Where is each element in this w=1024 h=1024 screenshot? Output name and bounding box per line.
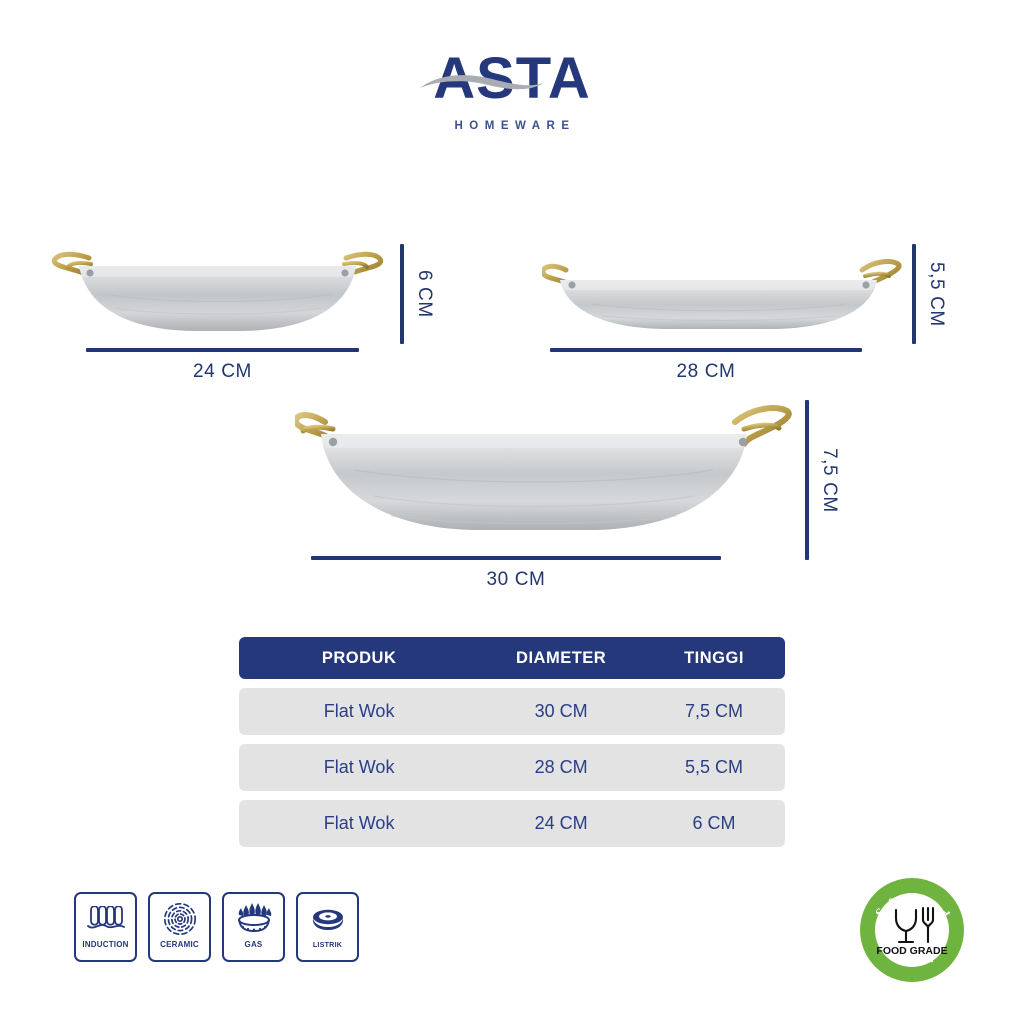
- cell-tinggi: 5,5 CM: [643, 757, 785, 778]
- table-row: Flat Wok 24 CM 6 CM: [239, 800, 785, 847]
- compatibility-badges: INDUCTION CERAMIC: [74, 892, 359, 962]
- brand-tagline: HOMEWARE: [0, 120, 1024, 132]
- dimension-line-vertical: [805, 400, 809, 560]
- height-dimension-wok-28: 5,5 CM: [912, 244, 947, 344]
- diameter-label: 24 CM: [86, 361, 359, 383]
- product-figure-wok-30: 7,5 CM 30 CM: [295, 392, 865, 597]
- cell-diameter: 24 CM: [479, 813, 643, 834]
- cell-diameter: 28 CM: [479, 757, 643, 778]
- brand-name: ASTA: [412, 48, 612, 110]
- compat-badge-gas: GAS: [222, 892, 285, 962]
- product-spec-sheet: ASTA HOMEWARE: [0, 0, 1024, 1024]
- cell-produk: Flat Wok: [239, 813, 479, 834]
- compat-badge-induction: INDUCTION: [74, 892, 137, 962]
- diameter-dimension-wok-28: 28 CM: [550, 348, 862, 383]
- product-figure-wok-28: 5,5 CM 28 CM: [542, 236, 962, 386]
- table-row: Flat Wok 28 CM 5,5 CM: [239, 744, 785, 791]
- gas-burner-icon: [235, 900, 273, 938]
- badge-center-text: FOOD GRADE: [876, 945, 947, 957]
- electric-hotplate-icon: [308, 900, 348, 938]
- dimension-line-vertical: [400, 244, 404, 344]
- logo-mark: ASTA: [412, 48, 612, 118]
- compat-label-gas: GAS: [245, 940, 263, 949]
- diameter-label: 28 CM: [550, 361, 862, 383]
- wok-24-illustration: [45, 242, 390, 352]
- product-figure-wok-24: 6 CM 24 CM: [45, 236, 465, 386]
- dimension-line-vertical: [912, 244, 916, 344]
- table-row: Flat Wok 30 CM 7,5 CM: [239, 688, 785, 735]
- height-label: 6 CM: [413, 244, 435, 344]
- wok-30-illustration: [295, 396, 795, 556]
- brand-logo: ASTA HOMEWARE: [0, 48, 1024, 132]
- cell-tinggi: 6 CM: [643, 813, 785, 834]
- specification-table: PRODUK DIAMETER TINGGI Flat Wok 30 CM 7,…: [239, 637, 785, 847]
- column-header-diameter: DIAMETER: [479, 649, 643, 668]
- height-dimension-wok-24: 6 CM: [400, 244, 435, 344]
- cell-diameter: 30 CM: [479, 701, 643, 722]
- induction-coil-icon: [86, 900, 126, 938]
- column-header-produk: PRODUK: [239, 649, 479, 668]
- wok-28-illustration: [542, 252, 902, 362]
- diameter-label: 30 CM: [311, 569, 721, 591]
- dimension-line-horizontal: [86, 348, 359, 352]
- cell-produk: Flat Wok: [239, 757, 479, 778]
- compat-badge-ceramic: CERAMIC: [148, 892, 211, 962]
- height-dimension-wok-30: 7,5 CM: [805, 400, 840, 560]
- height-label: 7,5 CM: [818, 400, 840, 560]
- compat-badge-listrik: LISTRIK: [296, 892, 359, 962]
- food-safe-badge: Safety Tested Food Safe FOOD GRADE: [858, 876, 966, 984]
- height-label: 5,5 CM: [925, 244, 947, 344]
- ceramic-rings-icon: [163, 900, 197, 938]
- table-header-row: PRODUK DIAMETER TINGGI: [239, 637, 785, 679]
- diameter-dimension-wok-24: 24 CM: [86, 348, 359, 383]
- compat-label-induction: INDUCTION: [82, 940, 128, 949]
- column-header-tinggi: TINGGI: [643, 649, 785, 668]
- compat-label-listrik: LISTRIK: [313, 940, 342, 949]
- compat-label-ceramic: CERAMIC: [160, 940, 199, 949]
- dimension-line-horizontal: [550, 348, 862, 352]
- cell-tinggi: 7,5 CM: [643, 701, 785, 722]
- dimension-line-horizontal: [311, 556, 721, 560]
- diameter-dimension-wok-30: 30 CM: [311, 556, 721, 591]
- cell-produk: Flat Wok: [239, 701, 479, 722]
